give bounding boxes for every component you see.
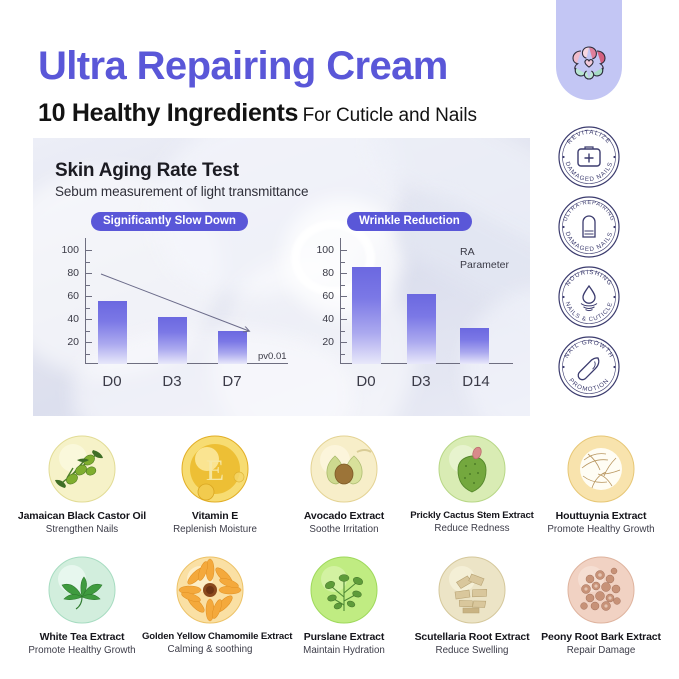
ingredient-desc: Maintain Hydration bbox=[276, 645, 412, 657]
purslane-drop-icon bbox=[305, 551, 383, 629]
badge-bottom-text: DAMAGED NAILS bbox=[564, 161, 615, 183]
olive-branch-drop-icon bbox=[43, 430, 121, 508]
svg-text:PROMOTION: PROMOTION bbox=[567, 377, 610, 393]
x-tick-label: D3 bbox=[411, 373, 430, 390]
ingredient-name: Vitamin E bbox=[147, 510, 283, 523]
ingredient-name: Purslane Extract bbox=[276, 631, 412, 644]
brand-logo-pill bbox=[556, 0, 622, 100]
ingredient-name: Jamaican Black Castor Oil bbox=[14, 510, 150, 523]
x-tick-label: D0 bbox=[356, 373, 375, 390]
scutellaria-root-drop-icon bbox=[433, 551, 511, 629]
chart-left-title-pill: Significantly Slow Down bbox=[91, 212, 248, 231]
houttuynia-root-drop-icon bbox=[562, 430, 640, 508]
ingredient-card: Houttuynia Extract Promote Healthy Growt… bbox=[533, 430, 669, 536]
ingredient-name: Avocado Extract bbox=[276, 510, 412, 523]
ingredient-card: Peony Root Bark Extract Repair Damage bbox=[533, 551, 669, 657]
growing-nail-icon bbox=[578, 358, 599, 380]
ingredient-desc: Calming & soothing bbox=[142, 644, 278, 656]
ingredient-card: White Tea Extract Promote Healthy Growth bbox=[14, 551, 150, 657]
ingredient-card: E Vitamin E Replenish Moisture bbox=[147, 430, 283, 536]
white-tea-leaf-drop-icon bbox=[43, 551, 121, 629]
svg-text:NAIL GROWTH: NAIL GROWTH bbox=[563, 339, 615, 360]
ingredient-card: Prickly Cactus Stem Extract Reduce Redne… bbox=[404, 430, 540, 535]
svg-text:NOURISHING: NOURISHING bbox=[564, 269, 613, 287]
svg-text:DAMAGED NAILS: DAMAGED NAILS bbox=[564, 161, 615, 183]
ingredient-name: White Tea Extract bbox=[14, 631, 150, 644]
x-tick-label: D14 bbox=[462, 373, 490, 390]
ingredient-desc: Reduce Redness bbox=[404, 523, 540, 535]
y-axis bbox=[340, 238, 341, 364]
ra-label-line1: RA bbox=[460, 246, 475, 258]
y-tick-label: 100 bbox=[308, 244, 334, 256]
ingredient-card: Avocado Extract Soothe Irritation bbox=[276, 430, 412, 536]
ingredient-name: Scutellaria Root Extract bbox=[404, 631, 540, 644]
page-subtitle: 10 Healthy Ingredients For Cuticle and N… bbox=[38, 99, 477, 128]
water-drop-icon bbox=[581, 286, 597, 311]
badge-ultra-repairing: ULTRA-REPAIRING DAMAGED NAILS bbox=[556, 194, 622, 260]
ingredient-name: Houttuynia Extract bbox=[533, 510, 669, 523]
ingredient-desc: Soothe Irritation bbox=[276, 524, 412, 536]
y-tick-label: 40 bbox=[308, 313, 334, 325]
badge-bottom-text: PROMOTION bbox=[567, 377, 610, 393]
ingredient-desc: Reduce Swelling bbox=[404, 645, 540, 657]
avocado-drop-icon bbox=[305, 430, 383, 508]
chamomile-flower-drop-icon bbox=[171, 551, 249, 629]
ra-label-line2: Parameter bbox=[460, 259, 509, 271]
badge-bottom-text: NAILS & CUTICLE bbox=[564, 301, 615, 323]
subtitle-strong: 10 Healthy Ingredients bbox=[38, 99, 298, 127]
badge-nourishing: NOURISHING NAILS & CUTICLE bbox=[556, 264, 622, 330]
badge-top-text: NOURISHING bbox=[564, 269, 613, 287]
badge-revitalize: REVITALIZE DAMAGED NAILS bbox=[556, 124, 622, 190]
peony-bark-drop-icon bbox=[562, 551, 640, 629]
svg-text:NAILS & CUTICLE: NAILS & CUTICLE bbox=[564, 301, 615, 323]
flower-logo-icon bbox=[564, 38, 614, 88]
panel-title: Skin Aging Rate Test bbox=[55, 160, 239, 182]
page-title: Ultra Repairing Cream bbox=[38, 44, 448, 89]
svg-text:E: E bbox=[206, 454, 224, 487]
ingredient-card: Golden Yellow Chamomile Extract Calming … bbox=[142, 551, 278, 656]
ra-parameter-label: RA Parameter bbox=[460, 246, 509, 272]
subtitle-light: For Cuticle and Nails bbox=[303, 105, 477, 126]
chart-panel: Skin Aging Rate Test Sebum measurement o… bbox=[33, 138, 530, 416]
y-tick-label: 60 bbox=[308, 290, 334, 302]
ingredient-card: Scutellaria Root Extract Reduce Swelling bbox=[404, 551, 540, 657]
chart-wrinkle-reduction: 100 80 60 40 20 D0 D3 D14 RA Parameter bbox=[308, 238, 513, 398]
bar-d14 bbox=[460, 328, 489, 364]
ingredient-desc: Promote Healthy Growth bbox=[533, 524, 669, 536]
nail-icon bbox=[583, 216, 595, 237]
trend-arrow-icon bbox=[53, 238, 288, 398]
infographic-page: Ultra Repairing Cream 10 Healthy Ingredi… bbox=[0, 0, 679, 679]
vitamin-e-capsule-drop-icon: E bbox=[176, 430, 254, 508]
ingredient-card: Purslane Extract Maintain Hydration bbox=[276, 551, 412, 657]
ingredient-desc: Replenish Moisture bbox=[147, 524, 283, 536]
ingredient-desc: Repair Damage bbox=[533, 645, 669, 657]
ingredient-name: Peony Root Bark Extract bbox=[533, 631, 669, 644]
y-tick-label: 20 bbox=[308, 336, 334, 348]
badge-nail-growth: NAIL GROWTH PROMOTION bbox=[556, 334, 622, 400]
cactus-drop-icon bbox=[433, 430, 511, 508]
panel-subtitle: Sebum measurement of light transmittance bbox=[55, 184, 308, 199]
first-aid-kit-icon bbox=[578, 147, 600, 166]
y-tick-label: 80 bbox=[308, 267, 334, 279]
ingredient-desc: Promote Healthy Growth bbox=[14, 645, 150, 657]
badge-top-text: NAIL GROWTH bbox=[563, 339, 615, 360]
ingredient-name: Prickly Cactus Stem Extract bbox=[404, 510, 540, 522]
bar-d0 bbox=[352, 267, 381, 364]
chart-skin-aging: 100 80 60 40 20 D0 D3 D7 pv0.01 bbox=[53, 238, 288, 398]
chart-right-title-pill: Wrinkle Reduction bbox=[347, 212, 472, 231]
bar-d3 bbox=[407, 294, 436, 364]
ingredient-card: Jamaican Black Castor Oil Strengthen Nai… bbox=[14, 430, 150, 536]
ingredient-desc: Strengthen Nails bbox=[14, 524, 150, 536]
ingredient-name: Golden Yellow Chamomile Extract bbox=[142, 631, 278, 643]
